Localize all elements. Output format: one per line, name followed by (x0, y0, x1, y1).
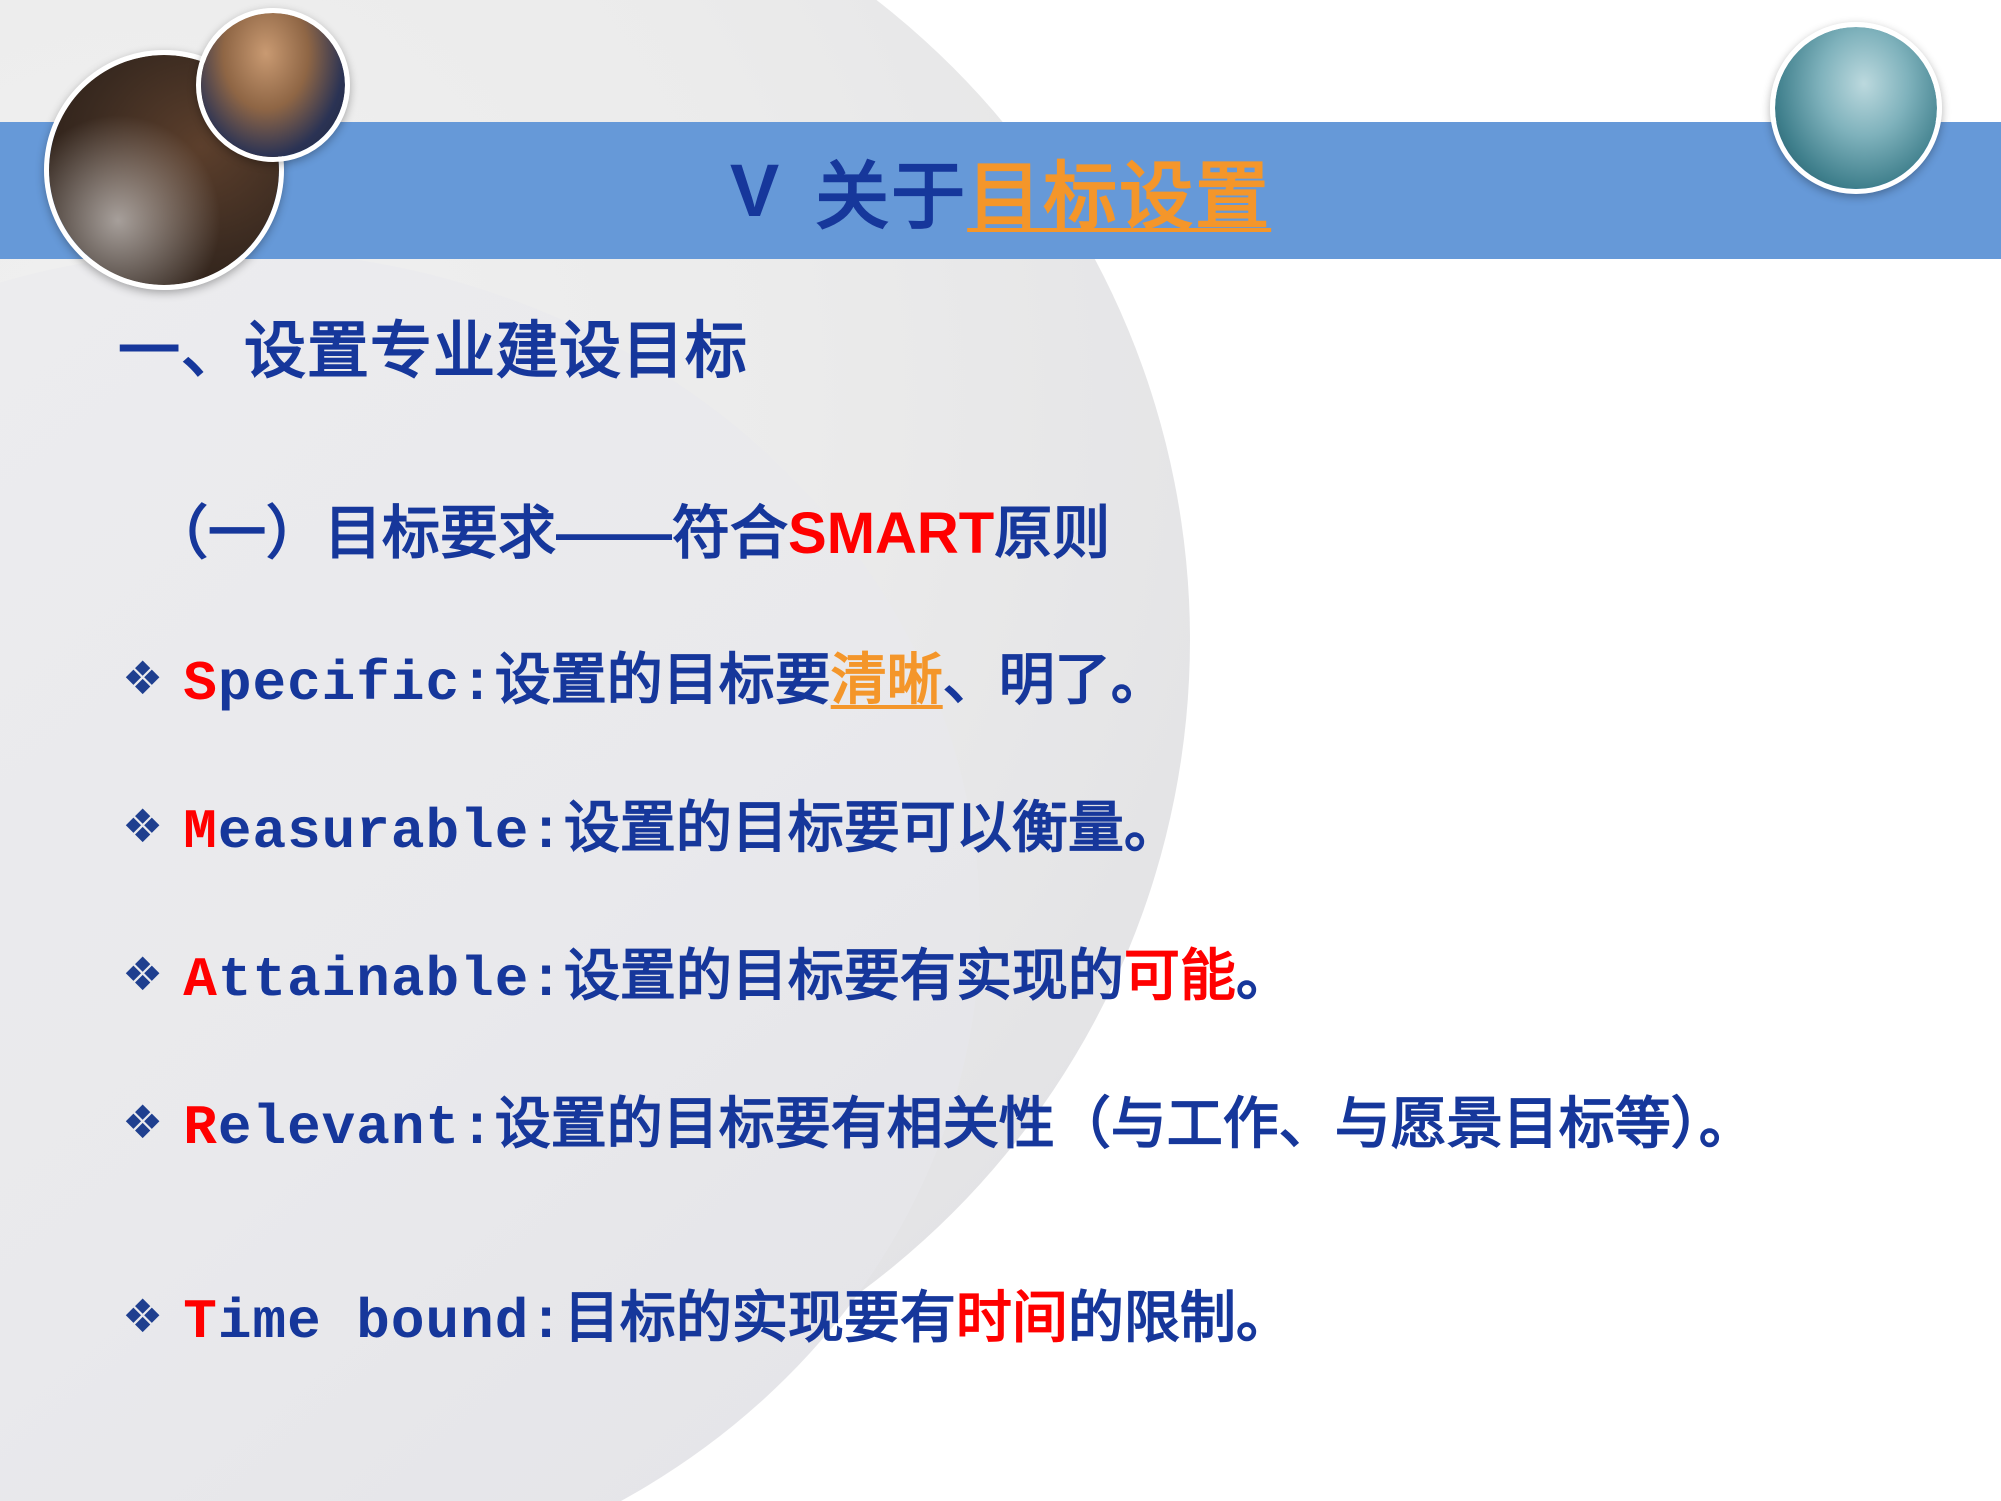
bullet-body-before-attainable: 设置的目标要有实现的 (564, 944, 1124, 1007)
photo-bubble-left-small (196, 8, 350, 162)
bullet-term-specific: pecific: (218, 652, 495, 716)
bullet-term-time-bound: ime bound: (218, 1290, 564, 1354)
bullet-body-before-time-bound: 目标的实现要有 (564, 1286, 956, 1349)
bullet-item-relevant: ❖ Relevant:设置的目标要有相关性（与工作、与愿景目标等）。 (122, 1094, 1952, 1158)
bullet-item-attainable: ❖ Attainable:设置的目标要有实现的可能。 (122, 946, 1952, 1010)
bullet-highlight-attainable: 可能 (1124, 944, 1236, 1007)
bullet-body-after-time-bound: 的限制。 (1068, 1286, 1292, 1349)
section-heading: 一、设置专业建设目标 (118, 300, 748, 390)
bullet-term-attainable: ttainable: (218, 948, 564, 1012)
slide-canvas: V 关于 目标设置 一、设置专业建设目标 （一）目标要求——符合SMART原则 … (0, 0, 2001, 1501)
diamond-bullet-icon: ❖ (122, 946, 163, 1004)
slide-content: 一、设置专业建设目标 （一）目标要求——符合SMART原则 ❖ Specific… (0, 0, 2001, 1501)
bullet-text-attainable: Attainable:设置的目标要有实现的可能。 (183, 946, 1952, 1010)
bullet-initial-measurable: M (183, 800, 218, 864)
bullet-item-specific: ❖ Specific:设置的目标要清晰、明了。 (122, 650, 1952, 714)
subsection-heading: （一）目标要求——符合SMART原则 (150, 486, 1110, 570)
diamond-bullet-icon: ❖ (122, 798, 163, 856)
bullet-item-time-bound: ❖ Time bound:目标的实现要有时间的限制。 (122, 1288, 1952, 1352)
bullet-body-before-specific: 设置的目标要 (495, 648, 831, 711)
diamond-bullet-icon: ❖ (122, 650, 163, 708)
bullet-initial-attainable: A (183, 948, 218, 1012)
bullet-body-after-specific: 、明了。 (943, 648, 1167, 711)
bullet-body-before-measurable: 设置的目标要可以衡量。 (564, 796, 1180, 859)
diamond-bullet-icon: ❖ (122, 1288, 163, 1346)
diamond-bullet-icon: ❖ (122, 1094, 163, 1152)
subsection-prefix: （一）目标要求——符合 (150, 501, 788, 566)
bullet-highlight-specific: 清晰 (831, 648, 943, 711)
bullet-initial-time-bound: T (183, 1290, 218, 1354)
bullet-term-relevant: elevant: (218, 1096, 495, 1160)
bullet-text-measurable: Measurable:设置的目标要可以衡量。 (183, 798, 1952, 862)
subsection-accent: SMART (788, 501, 994, 566)
bullet-text-specific: Specific:设置的目标要清晰、明了。 (183, 650, 1952, 714)
photo-bubble-right-image (1775, 27, 1937, 189)
bullet-text-time-bound: Time bound:目标的实现要有时间的限制。 (183, 1288, 1952, 1352)
subsection-suffix: 原则 (994, 501, 1110, 566)
bullet-initial-specific: S (183, 652, 218, 716)
bullet-initial-relevant: R (183, 1096, 218, 1160)
bullet-body-before-relevant: 设置的目标要有相关性（与工作、与愿景目标等）。 (495, 1092, 1755, 1155)
bullet-term-measurable: easurable: (218, 800, 564, 864)
bullet-highlight-time-bound: 时间 (956, 1286, 1068, 1349)
photo-bubble-left-small-image (201, 13, 345, 157)
bullet-body-after-attainable: 。 (1236, 944, 1292, 1007)
bullet-text-relevant: Relevant:设置的目标要有相关性（与工作、与愿景目标等）。 (183, 1094, 1952, 1158)
photo-bubble-right (1770, 22, 1942, 194)
bullet-item-measurable: ❖ Measurable:设置的目标要可以衡量。 (122, 798, 1952, 862)
